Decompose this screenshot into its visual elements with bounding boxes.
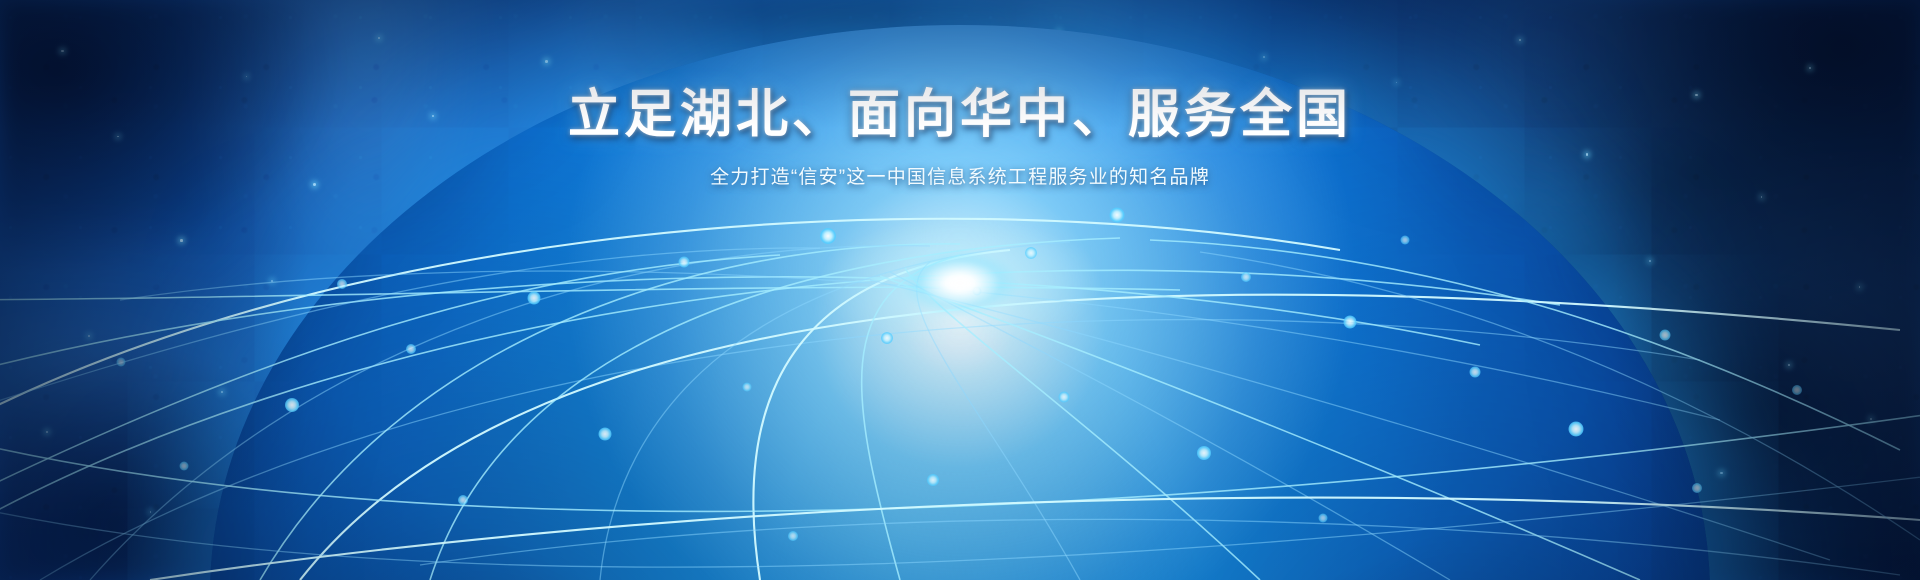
banner-copy: 立足湖北、面向华中、服务全国 全力打造“信安”这一中国信息系统工程服务业的知名品… xyxy=(0,86,1920,189)
network-arcs xyxy=(0,219,1920,580)
banner-headline: 立足湖北、面向华中、服务全国 xyxy=(0,86,1920,144)
hero-banner: 立足湖北、面向华中、服务全国 全力打造“信安”这一中国信息系统工程服务业的知名品… xyxy=(0,0,1920,580)
banner-subheadline: 全力打造“信安”这一中国信息系统工程服务业的知名品牌 xyxy=(0,162,1920,189)
